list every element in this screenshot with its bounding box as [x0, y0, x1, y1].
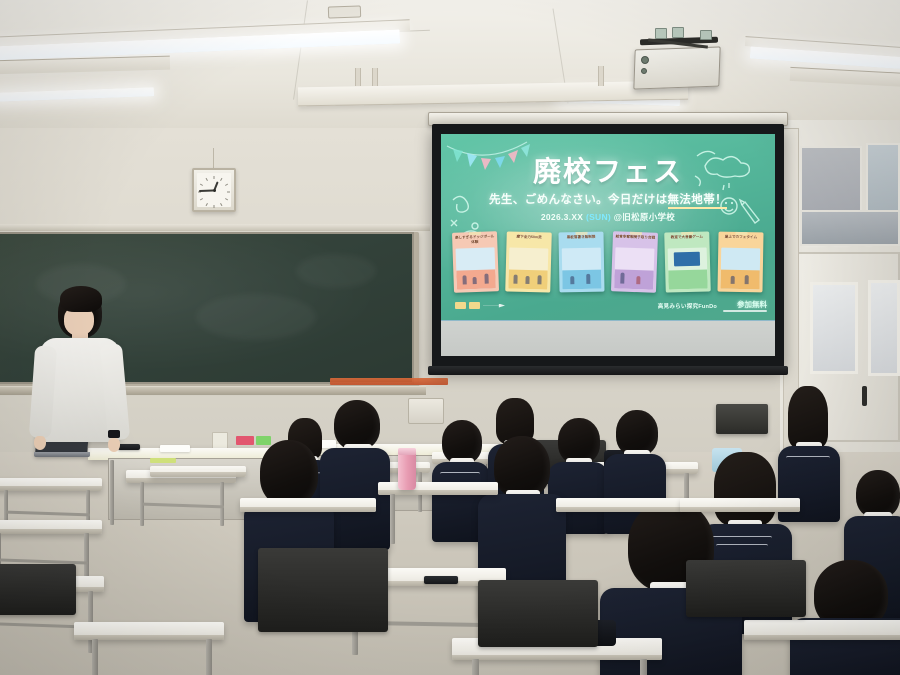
presenter [28, 288, 138, 468]
program-card: 楽しすぎるドッジボール体験 [452, 231, 499, 293]
door-glass-panel [810, 282, 858, 374]
projection-screen-frame: 廃校フェス 先生、ごめんなさい。今日だけは無法地帯！ 2026.3.XX (SU… [432, 124, 784, 368]
transom-window [800, 210, 900, 246]
clock-hook [213, 148, 214, 168]
wall-clock [192, 168, 236, 212]
transom-window [866, 143, 900, 213]
door-glass-panel [868, 280, 900, 376]
card-art [668, 247, 708, 289]
student-desk [556, 498, 686, 512]
student-desk [680, 498, 800, 512]
card-title: 教室で大音量ゲーム [666, 234, 707, 240]
slide-subtitle: 先生、ごめんなさい。今日だけは無法地帯！ [441, 191, 775, 207]
program-card: 黒板落書き無制限 [558, 232, 604, 293]
card-art [614, 247, 654, 289]
card-title: 廊下全力50m走 [509, 234, 550, 240]
projector-mount [672, 27, 684, 38]
card-title: 黒板落書き無制限 [561, 235, 602, 240]
classroom-scene: 廃校フェス 先生、ごめんなさい。今日だけは無法地帯！ 2026.3.XX (SU… [0, 0, 900, 675]
presenter-left-hand [34, 436, 46, 450]
beam-support [598, 66, 604, 86]
card-art [456, 247, 496, 289]
projector-body [633, 46, 720, 89]
pink-thermos-bottle[interactable] [398, 452, 416, 490]
program-card: 教室で大音量ゲーム [664, 231, 711, 292]
clock-minute-hand [199, 190, 214, 192]
beam-support [355, 68, 361, 86]
desk-leg [110, 460, 114, 525]
chalk-holder [330, 378, 448, 385]
wall-speaker [716, 404, 768, 434]
projection-screen-surface: 廃校フェス 先生、ごめんなさい。今日だけは無法地帯！ 2026.3.XX (SU… [441, 134, 775, 356]
arrow-icon [483, 304, 505, 308]
free-badge-underline [723, 310, 767, 312]
classroom-chair[interactable] [258, 548, 388, 675]
card-art [562, 248, 602, 290]
slide-footer-left [455, 302, 505, 309]
door-handle[interactable] [862, 386, 867, 406]
classroom-chair[interactable] [686, 560, 806, 670]
slide-date-day: (SUN) [586, 212, 611, 222]
footer-chip [455, 302, 466, 309]
presenter-head [58, 288, 102, 338]
student-desk [0, 520, 102, 534]
card-art [508, 247, 548, 289]
bottle-cap[interactable] [398, 448, 416, 455]
program-card: 給食争奪戦椅子取り合戦 [611, 231, 658, 293]
transom-window [800, 146, 862, 212]
smoke-detector-icon [328, 5, 361, 18]
program-card: 屋上でカフェタイム [717, 232, 763, 293]
student [798, 560, 900, 675]
card-title: 給食争奪戦椅子取り合戦 [615, 234, 656, 240]
projection-screen-bottom-bar [428, 366, 788, 375]
classroom-chair[interactable] [0, 564, 76, 674]
slide-letterbox [441, 320, 775, 356]
clock-center-pin [213, 189, 216, 192]
student-desk [240, 498, 376, 512]
slide-subtitle-highlight: 無法地帯！ [668, 194, 728, 209]
desk-papers[interactable] [160, 445, 190, 452]
clock-face [197, 173, 231, 207]
projector-lens-icon [641, 56, 649, 64]
desk-marker[interactable] [150, 458, 176, 463]
classroom-chair[interactable] [478, 580, 598, 675]
beam-support [372, 68, 378, 86]
chalkboard-rail [0, 224, 430, 231]
card-title: 楽しすぎるドッジボール体験 [454, 234, 495, 245]
slide-program-cards: 楽しすぎるドッジボール体験 廊下全力50m走 [453, 232, 763, 296]
smartphone-on-desk[interactable] [424, 576, 458, 584]
slide-subtitle-plain: 先生、ごめんなさい。今日だけは [489, 194, 668, 206]
presenter-watch [108, 430, 120, 438]
slide-date-prefix: 2026.3.XX [541, 212, 586, 222]
presenter-right-hand [108, 438, 120, 452]
projector-mount [700, 30, 712, 40]
footer-chip [469, 302, 480, 309]
card-title: 屋上でカフェタイム [720, 235, 761, 240]
card-art [721, 248, 761, 290]
student-desk [150, 466, 246, 477]
slide-date-line: 2026.3.XX (SUN) @旧松原小学校 [441, 211, 775, 223]
slide-brand: 高見みらい探究FunDo [658, 302, 717, 310]
student-desk [378, 482, 498, 495]
student-desk [74, 622, 224, 640]
slide-title: 廃校フェス [441, 150, 775, 190]
slide-date-suffix: @旧松原小学校 [611, 212, 675, 222]
free-admission-badge: 参加無料 [737, 299, 767, 310]
projector-led-icon [641, 68, 647, 74]
presentation-slide: 廃校フェス 先生、ごめんなさい。今日だけは無法地帯！ 2026.3.XX (SU… [441, 134, 775, 320]
projector-mount [655, 28, 667, 39]
program-card: 廊下全力50m走 [505, 231, 552, 292]
